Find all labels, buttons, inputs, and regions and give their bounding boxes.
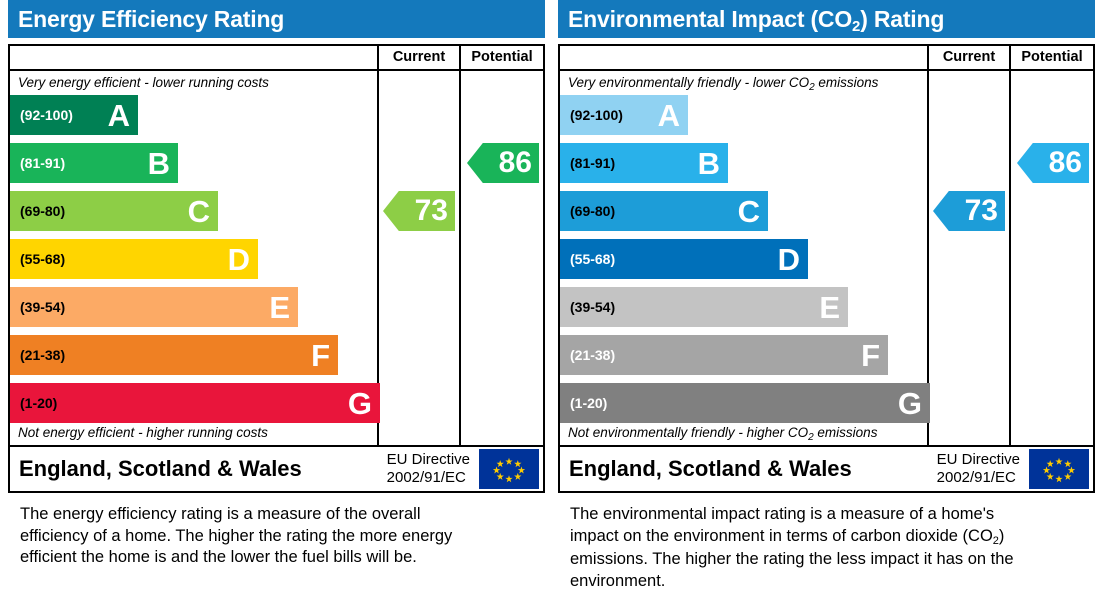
energy-note-bottom: Not energy efficient - higher running co… xyxy=(10,421,268,445)
environmental-title-sub: 2 xyxy=(852,18,860,35)
energy-directive-line1: EU Directive xyxy=(387,451,470,469)
band-a: (92-100)A xyxy=(10,95,138,135)
environmental-title-suffix: ) Rating xyxy=(860,6,944,32)
epc-charts-page: Energy Efficiency Rating Current Potenti… xyxy=(0,0,1100,616)
environmental-body-row: Very environmentally friendly - lower CO… xyxy=(560,71,1093,445)
band-a: (92-100)A xyxy=(560,95,688,135)
band-range-label: (69-80) xyxy=(10,203,65,219)
band-b: (81-91)B xyxy=(10,143,178,183)
band-f: (21-38)F xyxy=(560,335,888,375)
band-g: (1-20)G xyxy=(10,383,380,423)
environmental-column-headers: Current Potential xyxy=(560,46,1093,71)
band-letter-label: C xyxy=(188,196,210,227)
energy-header-spacer xyxy=(10,46,379,69)
environmental-potential-rating-value: 86 xyxy=(1049,148,1089,178)
band-range-label: (55-68) xyxy=(10,251,65,267)
band-d: (55-68)D xyxy=(10,239,258,279)
environmental-bands-column: Very environmentally friendly - lower CO… xyxy=(560,71,929,445)
energy-note-top: Very energy efficient - lower running co… xyxy=(10,71,269,95)
environmental-note-top-sub: 2 xyxy=(809,82,815,93)
environmental-impact-table: Current Potential Very environmentally f… xyxy=(558,44,1095,447)
environmental-band-list: (92-100)A(81-91)B(69-80)C(55-68)D(39-54)… xyxy=(560,95,927,423)
environmental-directive-line1: EU Directive xyxy=(937,451,1020,469)
band-g: (1-20)G xyxy=(560,383,930,423)
eu-flag-icon xyxy=(1028,449,1090,489)
environmental-header-potential: Potential xyxy=(1011,46,1093,69)
band-letter-label: F xyxy=(311,340,330,371)
environmental-note-top: Very environmentally friendly - lower CO… xyxy=(560,71,878,95)
energy-current-rating-arrow: 73 xyxy=(383,191,455,231)
energy-efficiency-panel: Energy Efficiency Rating Current Potenti… xyxy=(8,0,545,616)
environmental-note-top-suffix: emissions xyxy=(815,75,879,90)
band-letter-label: A xyxy=(108,100,130,131)
band-range-label: (21-38) xyxy=(560,347,615,363)
band-range-label: (55-68) xyxy=(560,251,615,267)
band-range-label: (92-100) xyxy=(560,107,623,123)
energy-body-row: Very energy efficient - lower running co… xyxy=(10,71,543,445)
band-letter-label: A xyxy=(658,100,680,131)
environmental-note-bottom: Not environmentally friendly - higher CO… xyxy=(560,421,877,445)
environmental-note-bottom-sub: 2 xyxy=(808,432,814,443)
band-letter-label: E xyxy=(819,292,840,323)
band-letter-label: D xyxy=(228,244,250,275)
band-d: (55-68)D xyxy=(560,239,808,279)
band-c: (69-80)C xyxy=(10,191,218,231)
band-letter-label: E xyxy=(269,292,290,323)
energy-bands-column: Very energy efficient - lower running co… xyxy=(10,71,379,445)
energy-potential-rating-value: 86 xyxy=(499,148,539,178)
band-range-label: (39-54) xyxy=(560,299,615,315)
band-e: (39-54)E xyxy=(10,287,298,327)
energy-header-potential: Potential xyxy=(461,46,543,69)
environmental-footer-directive: EU Directive 2002/91/EC xyxy=(937,451,1028,487)
band-range-label: (81-91) xyxy=(10,155,65,171)
environmental-current-rating-value: 73 xyxy=(965,196,1005,226)
energy-current-rating-value: 73 xyxy=(415,196,455,226)
environmental-note-bottom-suffix: emissions xyxy=(814,425,878,440)
energy-footer-region: England, Scotland & Wales xyxy=(10,456,387,482)
energy-efficiency-table: Current Potential Very energy efficient … xyxy=(8,44,545,447)
band-range-label: (39-54) xyxy=(10,299,65,315)
energy-footer-directive: EU Directive 2002/91/EC xyxy=(387,451,478,487)
environmental-description: The environmental impact rating is a mea… xyxy=(558,504,1040,592)
environmental-note-top-prefix: Very environmentally friendly - lower CO xyxy=(568,75,809,90)
band-letter-label: B xyxy=(698,148,720,179)
band-letter-label: G xyxy=(348,388,372,419)
environmental-potential-column: 86 xyxy=(1011,71,1093,445)
energy-directive-line2: 2002/91/EC xyxy=(387,469,470,487)
band-letter-label: F xyxy=(861,340,880,371)
band-e: (39-54)E xyxy=(560,287,848,327)
environmental-header-spacer xyxy=(560,46,929,69)
band-range-label: (81-91) xyxy=(560,155,615,171)
environmental-potential-rating-arrow: 86 xyxy=(1017,143,1089,183)
energy-efficiency-header: Energy Efficiency Rating xyxy=(8,0,545,38)
environmental-impact-panel: Environmental Impact (CO2) Rating Curren… xyxy=(558,0,1095,616)
environmental-current-column: 73 xyxy=(929,71,1011,445)
band-range-label: (69-80) xyxy=(560,203,615,219)
band-f: (21-38)F xyxy=(10,335,338,375)
environmental-description-part1: The environmental impact rating is a mea… xyxy=(570,505,994,545)
environmental-header-current: Current xyxy=(929,46,1011,69)
energy-efficiency-title: Energy Efficiency Rating xyxy=(18,6,284,32)
energy-band-list: (92-100)A(81-91)B(69-80)C(55-68)D(39-54)… xyxy=(10,95,377,423)
band-letter-label: C xyxy=(738,196,760,227)
energy-current-column: 73 xyxy=(379,71,461,445)
environmental-description-sub: 2 xyxy=(993,535,999,547)
environmental-footer: England, Scotland & Wales EU Directive 2… xyxy=(558,447,1095,493)
band-range-label: (1-20) xyxy=(560,395,607,411)
energy-column-headers: Current Potential xyxy=(10,46,543,71)
band-letter-label: D xyxy=(778,244,800,275)
band-b: (81-91)B xyxy=(560,143,728,183)
environmental-note-bottom-prefix: Not environmentally friendly - higher CO xyxy=(568,425,808,440)
environmental-current-rating-arrow: 73 xyxy=(933,191,1005,231)
energy-header-current: Current xyxy=(379,46,461,69)
band-letter-label: B xyxy=(148,148,170,179)
environmental-footer-region: England, Scotland & Wales xyxy=(560,456,937,482)
energy-potential-rating-arrow: 86 xyxy=(467,143,539,183)
environmental-directive-line2: 2002/91/EC xyxy=(937,469,1020,487)
energy-potential-column: 86 xyxy=(461,71,543,445)
band-letter-label: G xyxy=(898,388,922,419)
band-c: (69-80)C xyxy=(560,191,768,231)
band-range-label: (21-38) xyxy=(10,347,65,363)
eu-flag-icon xyxy=(478,449,540,489)
environmental-impact-header: Environmental Impact (CO2) Rating xyxy=(558,0,1095,38)
energy-footer: England, Scotland & Wales EU Directive 2… xyxy=(8,447,545,493)
band-range-label: (1-20) xyxy=(10,395,57,411)
energy-description: The energy efficiency rating is a measur… xyxy=(8,504,490,569)
environmental-title-prefix: Environmental Impact (CO xyxy=(568,6,852,32)
band-range-label: (92-100) xyxy=(10,107,73,123)
